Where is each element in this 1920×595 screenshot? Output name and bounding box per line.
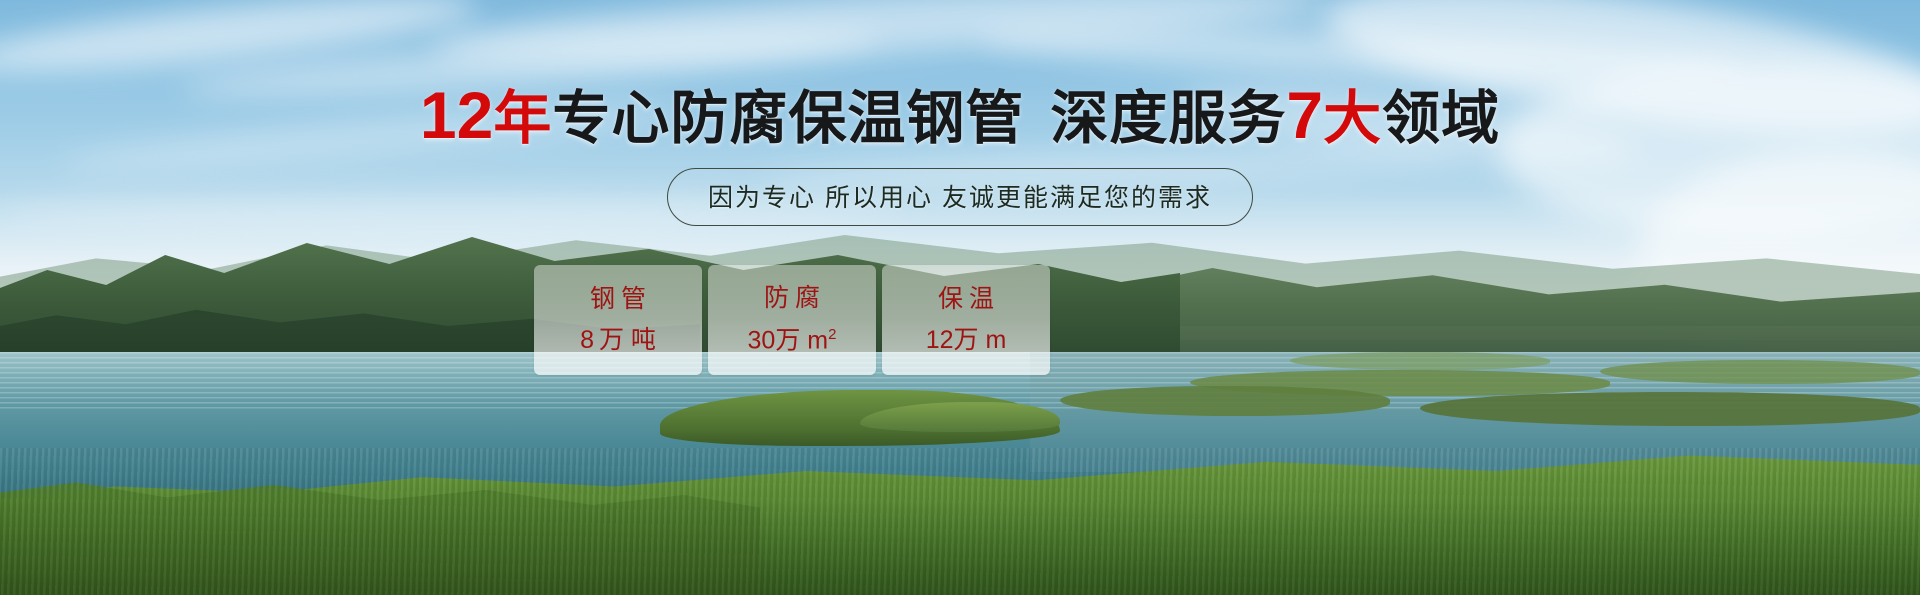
stat-card-list: 钢管 8万 吨 防腐 30万 m2 保温 12万 m xyxy=(534,265,1050,375)
headline-years-number: 12 xyxy=(420,78,493,152)
stat-card-label: 钢管 xyxy=(584,287,652,312)
subtitle-pill: 因为专心 所以用心 友诚更能满足您的需求 xyxy=(667,168,1253,226)
stat-card-label: 防腐 xyxy=(758,286,826,311)
stat-value-number: 30 xyxy=(748,327,776,355)
stat-card-value: 12万 m xyxy=(926,328,1007,353)
stat-value-unit: 万 吨 xyxy=(599,326,656,354)
headline-years-unit: 年 xyxy=(493,86,552,151)
headline-service-text: 深度服务 xyxy=(1050,86,1286,151)
headline-fields-number: 7 xyxy=(1286,78,1323,152)
stat-card-anticorrosion: 防腐 30万 m2 xyxy=(708,265,876,375)
headline-main-text: 专心防腐保温钢管 xyxy=(552,86,1024,151)
stat-card-value: 30万 m2 xyxy=(748,327,837,353)
headline-fields-text: 领域 xyxy=(1382,86,1500,151)
stat-card-steel-pipe: 钢管 8万 吨 xyxy=(534,265,702,375)
stat-value-number: 12 xyxy=(926,326,954,354)
stat-card-insulation: 保温 12万 m xyxy=(882,265,1050,375)
banner-content: 12年专心防腐保温钢管深度服务7大领域 因为专心 所以用心 友诚更能满足您的需求… xyxy=(0,0,1920,595)
stat-value-superscript: 2 xyxy=(828,326,836,343)
stat-value-unit: 万 m xyxy=(954,326,1007,354)
stat-card-value: 8万 吨 xyxy=(580,328,656,353)
stat-value-number: 8 xyxy=(580,326,594,354)
stat-card-label: 保温 xyxy=(932,287,1000,312)
headline-fields-unit: 大 xyxy=(1323,86,1382,151)
stat-value-unit: 万 m xyxy=(775,327,828,355)
promo-banner: 12年专心防腐保温钢管深度服务7大领域 因为专心 所以用心 友诚更能满足您的需求… xyxy=(0,0,1920,595)
subtitle-wrapper: 因为专心 所以用心 友诚更能满足您的需求 xyxy=(0,168,1920,226)
headline: 12年专心防腐保温钢管深度服务7大领域 xyxy=(0,82,1920,148)
